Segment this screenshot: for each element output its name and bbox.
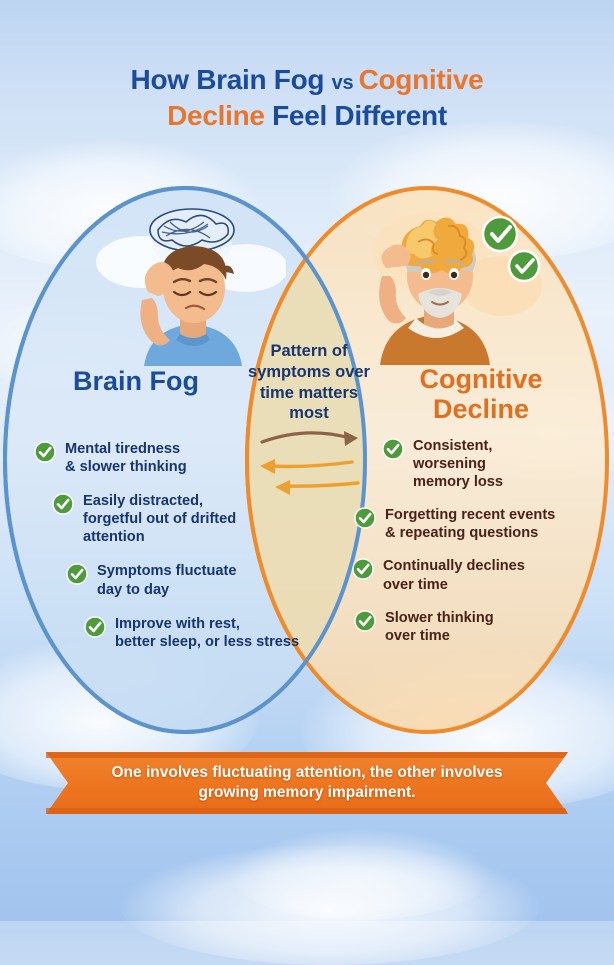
list-item-label: Forgetting recent events & repeating que…: [385, 506, 555, 542]
check-icon: [354, 507, 376, 529]
list-item-label: Easily distracted, forgetful out of drif…: [83, 492, 236, 546]
elderly-man-illustration: [352, 190, 542, 365]
brain-fog-bullet-list: Mental tiredness & slower thinking Easil…: [26, 440, 326, 667]
title-line-2: Decline Feel Different: [40, 98, 574, 134]
cognitive-decline-bullet-list: Consistent, worsening memory loss Forget…: [348, 437, 598, 660]
title-part-vs: vs: [332, 72, 359, 94]
overlap-label: Pattern of symptoms over time matters mo…: [239, 341, 379, 424]
check-icon: [354, 610, 376, 632]
list-item: Consistent, worsening memory loss: [382, 437, 598, 491]
list-item: Forgetting recent events & repeating que…: [354, 506, 598, 542]
list-item-label: Improve with rest, better sleep, or less…: [115, 615, 299, 651]
summary-ribbon: One involves fluctuating attention, the …: [46, 752, 568, 814]
check-icon: [66, 563, 88, 585]
cloud-decoration: [230, 830, 490, 920]
list-item: Continually declines over time: [352, 557, 598, 593]
ribbon-text: One involves fluctuating attention, the …: [46, 752, 568, 814]
page-title: How Brain Fog vs Cognitive Decline Feel …: [0, 62, 614, 134]
title-part-brain-fog: How Brain Fog: [131, 64, 332, 95]
right-heading: Cognitive Decline: [386, 364, 576, 424]
list-item-label: Slower thinking over time: [385, 609, 494, 645]
list-item-label: Consistent, worsening memory loss: [413, 437, 503, 491]
check-icon: [352, 558, 374, 580]
list-item-label: Continually declines over time: [383, 557, 525, 593]
list-item: Slower thinking over time: [354, 609, 598, 645]
list-item: Improve with rest, better sleep, or less…: [84, 615, 326, 651]
check-icon: [34, 441, 56, 463]
left-heading: Brain Fog: [36, 366, 236, 396]
list-item: Easily distracted, forgetful out of drif…: [52, 492, 326, 546]
title-part-cognitive: Cognitive: [359, 64, 484, 95]
list-item: Symptoms fluctuate day to day: [66, 562, 326, 598]
check-icon: [52, 493, 74, 515]
cloud-decoration: [120, 845, 540, 965]
title-part-decline: Decline: [167, 100, 265, 131]
list-item-label: Symptoms fluctuate day to day: [97, 562, 236, 598]
check-badge: [509, 251, 539, 281]
check-icon: [84, 616, 106, 638]
check-icon: [382, 438, 404, 460]
scribble-cloud-icon: [150, 209, 234, 251]
title-line-1: How Brain Fog vs Cognitive: [40, 62, 574, 98]
list-item: Mental tiredness & slower thinking: [34, 440, 326, 476]
title-part-feel-different: Feel Different: [265, 100, 447, 131]
check-badge: [483, 217, 517, 251]
list-item-label: Mental tiredness & slower thinking: [65, 440, 187, 476]
